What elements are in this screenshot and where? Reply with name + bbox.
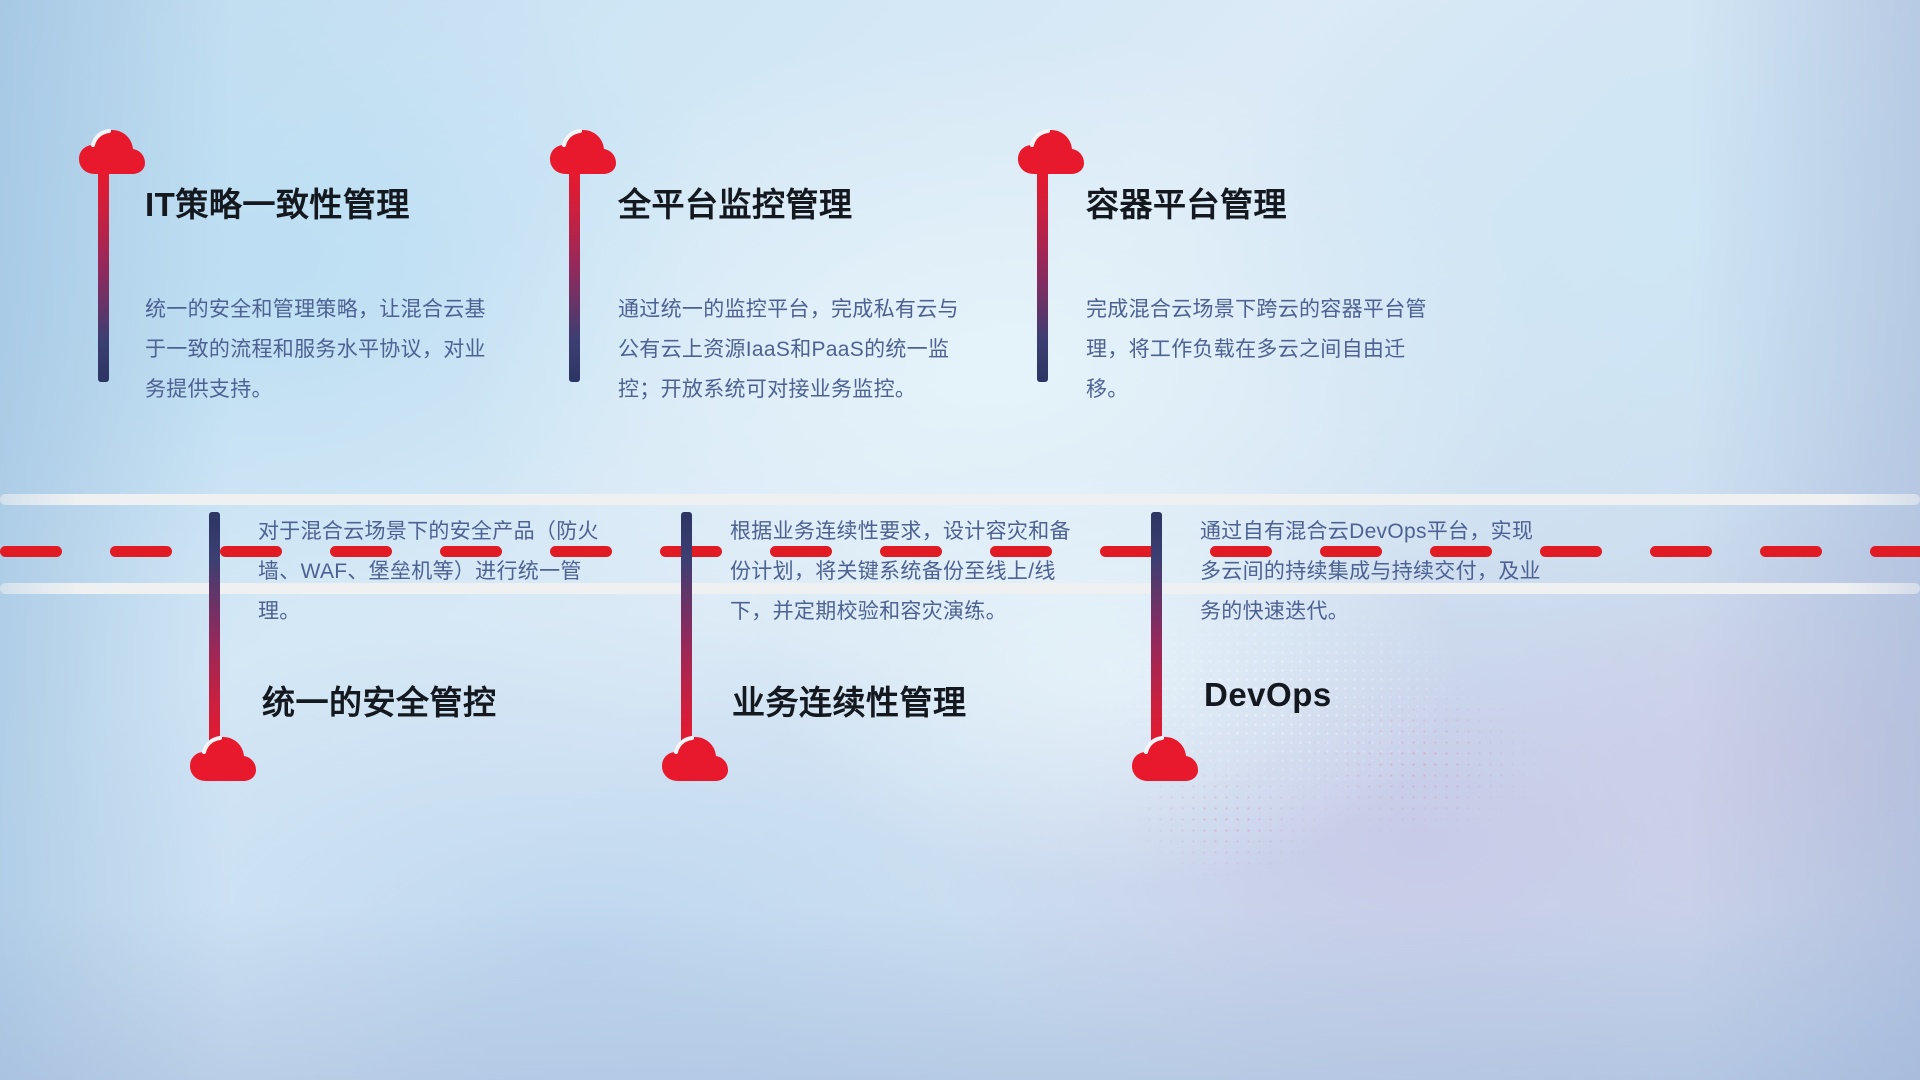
divider-dash xyxy=(1760,546,1822,557)
column-title: 全平台监控管理 xyxy=(618,178,853,226)
column-body: 根据业务连续性要求，设计容灾和备份计划，将关键系统备份至线上/线下，并定期校验和… xyxy=(730,512,1075,632)
column-title: 容器平台管理 xyxy=(1086,178,1287,226)
column-body: 统一的安全和管理策略，让混合云基于一致的流程和服务水平协议，对业务提供支持。 xyxy=(145,290,500,410)
connector-line xyxy=(1151,512,1162,750)
column-title: 统一的安全管控 xyxy=(262,676,497,724)
connector-line xyxy=(1037,170,1048,382)
divider-dash xyxy=(1870,546,1920,557)
cloud-icon xyxy=(661,735,729,785)
connector-line xyxy=(681,512,692,750)
connector-line xyxy=(98,170,109,382)
column-body: 通过统一的监控平台，完成私有云与公有云上资源IaaS和PaaS的统一监控；开放系… xyxy=(618,290,978,410)
column-body: 对于混合云场景下的安全产品（防火墙、WAF、堡垒机等）进行统一管理。 xyxy=(258,512,603,632)
column-title: 业务连续性管理 xyxy=(732,676,967,724)
column-title: IT策略一致性管理 xyxy=(145,178,410,226)
divider-dash xyxy=(110,546,172,557)
cloud-icon xyxy=(189,735,257,785)
cloud-icon xyxy=(549,128,617,178)
divider-dash xyxy=(1650,546,1712,557)
column-body: 完成混合云场景下跨云的容器平台管理，将工作负载在多云之间自由迁移。 xyxy=(1086,290,1446,410)
connector-line xyxy=(209,512,220,750)
column-title: DevOps xyxy=(1204,676,1332,714)
connector-line xyxy=(569,170,580,382)
cloud-icon xyxy=(1131,735,1199,785)
cloud-icon xyxy=(78,128,146,178)
divider-band-top xyxy=(0,494,1920,505)
cloud-icon xyxy=(1017,128,1085,178)
column-body: 通过自有混合云DevOps平台，实现多云间的持续集成与持续交付，及业务的快速迭代… xyxy=(1200,512,1550,632)
divider-dash xyxy=(0,546,62,557)
